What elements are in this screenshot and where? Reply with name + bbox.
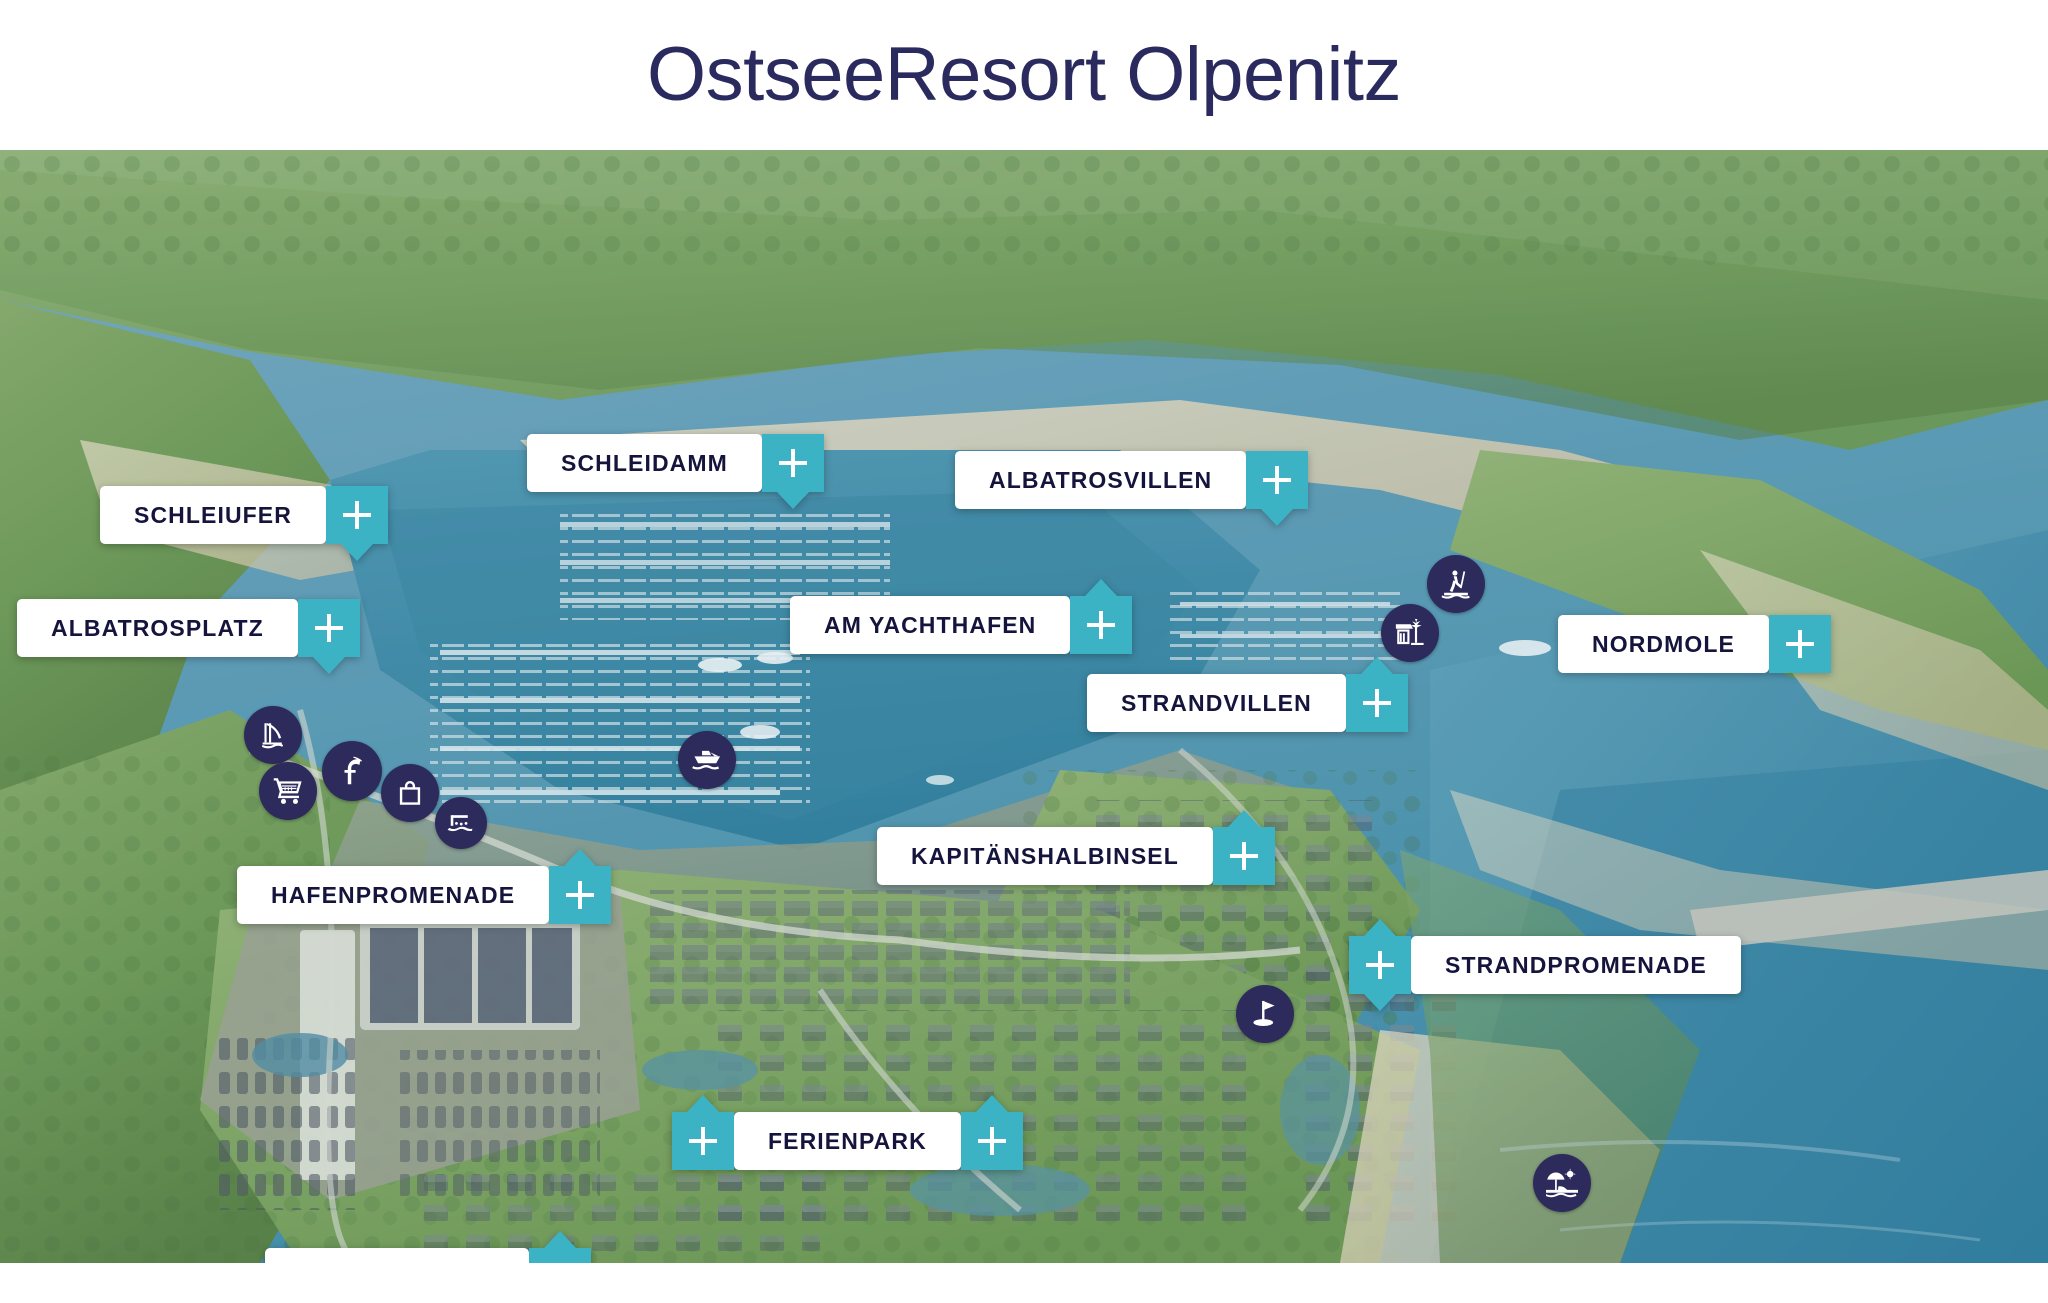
- hotspot-plus-button[interactable]: [1349, 936, 1411, 994]
- hotspot-plus-button-left[interactable]: [672, 1112, 734, 1170]
- hotspot-kapitaenshalbinsel[interactable]: KAPITÄNSHALBINSEL: [877, 827, 1275, 885]
- plus-icon: [315, 614, 343, 642]
- hotspot-ferienpark[interactable]: FERIENPARK: [672, 1112, 1023, 1170]
- hotspot-plus-button[interactable]: [1070, 596, 1132, 654]
- hotspot-strandpromenade[interactable]: STRANDPROMENADE: [1349, 936, 1741, 994]
- hotspot-label: HAFENPROMENADE: [237, 866, 549, 924]
- hotspot-label: FERIENLOUNGE: [265, 1248, 529, 1263]
- water-slide-icon[interactable]: [244, 706, 302, 764]
- page-title: OstseeResort Olpenitz: [647, 37, 1401, 113]
- f-brand-icon[interactable]: [322, 741, 382, 801]
- plus-icon: [343, 501, 371, 529]
- hotspot-strandvillen[interactable]: STRANDVILLEN: [1087, 674, 1408, 732]
- hotspot-label: SCHLEIUFER: [100, 486, 326, 544]
- hotspot-label: AM YACHTHAFEN: [790, 596, 1070, 654]
- paddleboard-icon[interactable]: [1427, 555, 1485, 613]
- plus-icon: [1786, 630, 1814, 658]
- hotspot-label: SCHLEIDAMM: [527, 434, 762, 492]
- plus-icon: [1230, 842, 1258, 870]
- plus-icon: [1087, 611, 1115, 639]
- hotspot-plus-button[interactable]: [1346, 674, 1408, 732]
- title-bar: OstseeResort Olpenitz: [0, 0, 2048, 150]
- plus-icon: [1366, 951, 1394, 979]
- plus-icon: [1263, 466, 1291, 494]
- hotspot-plus-button[interactable]: [549, 866, 611, 924]
- hotspot-am-yachthafen[interactable]: AM YACHTHAFEN: [790, 596, 1132, 654]
- hotspot-label: ALBATROSVILLEN: [955, 451, 1246, 509]
- hotspot-schleidamm[interactable]: SCHLEIDAMM: [527, 434, 824, 492]
- hotspot-ferienlounge[interactable]: FERIENLOUNGE: [265, 1248, 591, 1263]
- golf-icon[interactable]: [1236, 985, 1294, 1043]
- hotspot-label: KAPITÄNSHALBINSEL: [877, 827, 1213, 885]
- hotspot-plus-button[interactable]: [762, 434, 824, 492]
- hotspot-plus-button[interactable]: [1246, 451, 1308, 509]
- market-stall-icon[interactable]: [1381, 604, 1439, 662]
- hotspot-label: FERIENPARK: [734, 1112, 961, 1170]
- plus-icon: [978, 1127, 1006, 1155]
- hotspot-nordmole[interactable]: NORDMOLE: [1558, 615, 1831, 673]
- resort-map[interactable]: SCHLEIDAMM SCHLEIUFER ALBATROSVILLEN ALB…: [0, 150, 2048, 1263]
- hotspot-label: ALBATROSPLATZ: [17, 599, 298, 657]
- hotspot-plus-button-right[interactable]: [961, 1112, 1023, 1170]
- map-aerial-illustration: [0, 150, 2048, 1263]
- hotspot-schleiufer[interactable]: SCHLEIUFER: [100, 486, 388, 544]
- hotspot-label: STRANDPROMENADE: [1411, 936, 1741, 994]
- hotspot-hafenpromenade[interactable]: HAFENPROMENADE: [237, 866, 611, 924]
- plus-icon: [689, 1127, 717, 1155]
- shopping-cart-icon[interactable]: [259, 762, 317, 820]
- hotspot-plus-button[interactable]: [1213, 827, 1275, 885]
- watersports-icon[interactable]: [435, 797, 487, 849]
- hotspot-albatrosplatz[interactable]: ALBATROSPLATZ: [17, 599, 360, 657]
- plus-icon: [566, 881, 594, 909]
- hotspot-plus-button[interactable]: [298, 599, 360, 657]
- hotspot-plus-button[interactable]: [1769, 615, 1831, 673]
- plus-icon: [779, 449, 807, 477]
- hotspot-albatrosvillen[interactable]: ALBATROSVILLEN: [955, 451, 1308, 509]
- beach-icon[interactable]: [1533, 1154, 1591, 1212]
- shopping-bag-icon[interactable]: [381, 764, 439, 822]
- hotspot-label: NORDMOLE: [1558, 615, 1769, 673]
- motorboat-icon[interactable]: [678, 731, 736, 789]
- hotspot-label: STRANDVILLEN: [1087, 674, 1346, 732]
- hotspot-plus-button[interactable]: [326, 486, 388, 544]
- plus-icon: [1363, 689, 1391, 717]
- hotspot-plus-button[interactable]: [529, 1248, 591, 1263]
- page-root: OstseeResort Olpenitz: [0, 0, 2048, 1303]
